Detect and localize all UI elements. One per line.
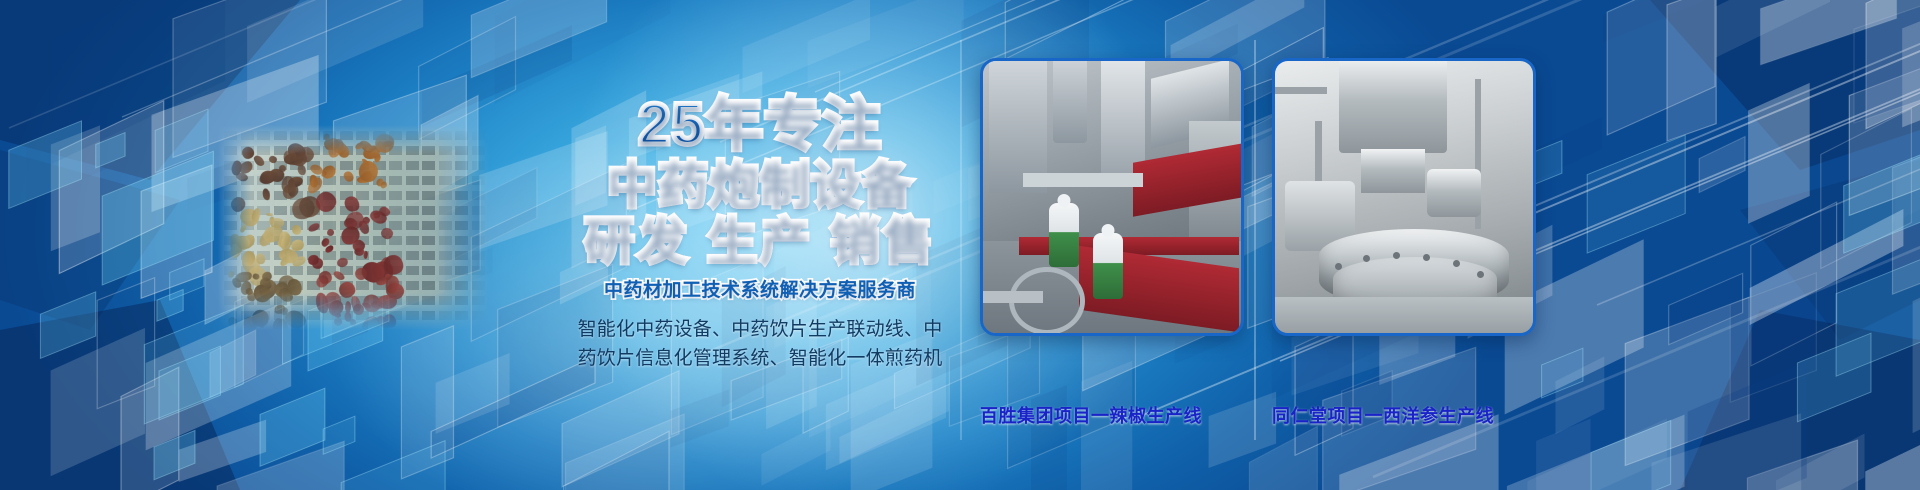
herb-piece [359,160,378,182]
hero-banner: 25年专注 中药炮制设备 研发 生产 销售 中药材加工技术系统解决方案服务商 智… [0,0,1920,490]
description-line-2: 药饮片信息化管理系统、智能化一体煎药机 [560,345,960,374]
herb-piece [323,133,329,140]
project-card-chili[interactable] [980,58,1244,336]
ancient-text-column [439,131,452,324]
herb-piece [354,247,364,255]
headline-line-1: 25年专注 [560,96,960,154]
headline-text-block: 25年专注 中药炮制设备 研发 生产 销售 中药材加工技术系统解决方案服务商 智… [560,96,960,374]
ginseng-production-line-photo [1275,61,1533,333]
ancient-text-column [472,131,485,324]
caption-chili: 百胜集团项目一辣椒生产线 [980,402,1202,428]
chili-production-line-photo [983,61,1241,333]
description-line-1: 智能化中药设备、中药饮片生产联动线、中 [560,316,960,345]
ancient-text-column [422,131,435,324]
caption-ginseng: 同仁堂项目一西洋参生产线 [1272,402,1494,428]
description: 智能化中药设备、中药饮片生产联动线、中 药饮片信息化管理系统、智能化一体煎药机 [560,316,960,374]
ancient-text-column [406,131,419,324]
ancient-text-column [455,131,468,324]
tagline: 中药材加工技术系统解决方案服务商 [560,275,960,302]
herb-collage-image [218,125,490,330]
herb-piece [343,311,352,321]
headline-line-3: 研发 生产 销售 [560,216,960,266]
project-card-ginseng[interactable] [1272,58,1536,336]
headline-line-2: 中药炮制设备 [560,160,960,210]
